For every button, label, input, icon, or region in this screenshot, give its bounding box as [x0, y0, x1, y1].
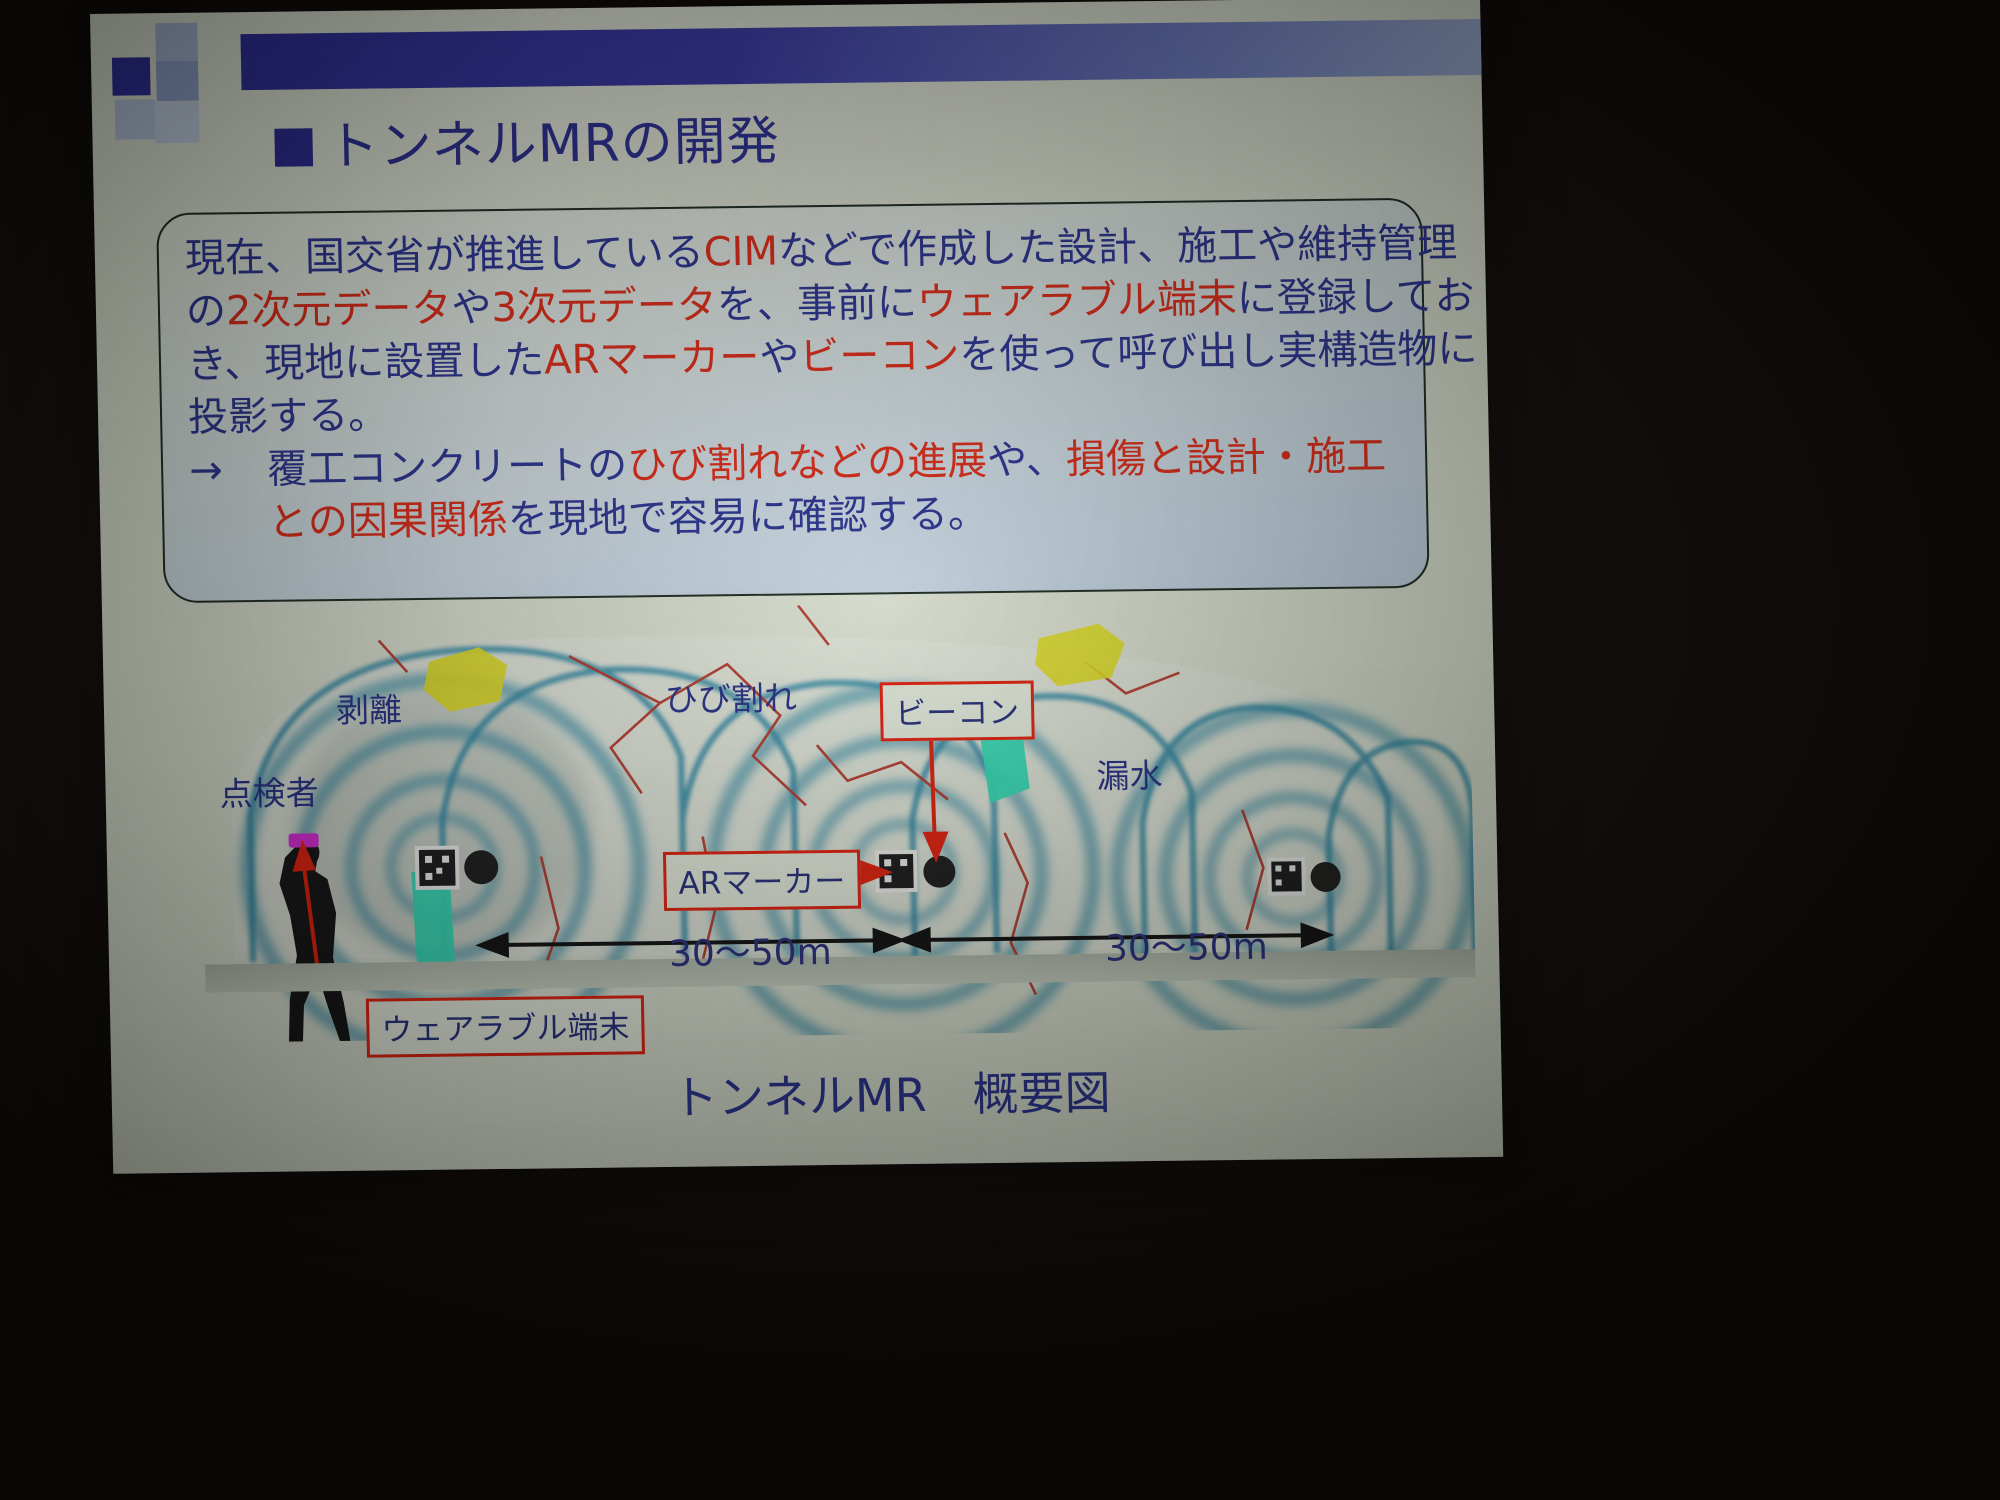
body-text: き、現地に設置した — [187, 337, 545, 387]
highlight-text: ビーコン — [799, 332, 960, 380]
description-paragraph: 現在、国交省が推進しているCIMなどで作成した設計、施工や維持管理の2次元データ… — [184, 218, 1402, 445]
tunnel-diagram-svg — [138, 597, 1477, 1043]
highlight-text: 2次元データ — [226, 286, 452, 335]
deco-square-1 — [112, 57, 151, 95]
body-text: や、 — [987, 437, 1067, 484]
deco-square-3 — [156, 61, 199, 102]
body-text: や — [451, 285, 492, 331]
body-text: 覆工コンクリートの — [267, 442, 628, 492]
presentation-slide: トンネルMRの開発 現在、国交省が推進しているCIMなどで作成した設計、施工や維… — [90, 0, 1503, 1174]
callout-beacon: ビーコン — [880, 681, 1035, 742]
highlight-text: との因果関係 — [268, 497, 509, 546]
body-text: を現地で容易に確認する。 — [507, 491, 988, 543]
arrow-icon: → — [189, 444, 234, 498]
arrow-icon — [190, 497, 235, 551]
label-spalling: 剥離 — [335, 683, 402, 732]
highlight-text: ARマーカー — [544, 335, 760, 384]
highlight-text: 損傷と設計・施工 — [1066, 433, 1387, 483]
body-text: 投影する。 — [188, 392, 389, 440]
slide-title-text: トンネルMRの開発 — [326, 116, 780, 174]
label-leakage: 漏水 — [1096, 749, 1163, 798]
highlight-text: 3次元データ — [491, 282, 717, 331]
callout-ar-marker: ARマーカー — [663, 850, 861, 911]
deco-square-6 — [155, 101, 200, 144]
diagram-caption: トンネルMR 概要図 — [671, 1057, 1111, 1128]
square-bullet-icon — [274, 128, 313, 166]
highlight-text: ウェアラブル端末 — [916, 276, 1237, 326]
description-line: との因果関係を現地で容易に確認する。 — [268, 488, 989, 550]
body-text: を使って呼び出し実構造物に — [959, 326, 1478, 378]
tunnel-mr-diagram: 剥離ひび割れ点検者漏水 ビーコンARマーカーウェアラブル端末 30〜50m30〜… — [138, 597, 1477, 1043]
header-gradient-bar — [240, 19, 1481, 90]
body-text: を、事前に — [716, 280, 917, 328]
slide-title: トンネルMRの開発 — [274, 116, 780, 174]
body-text: の — [186, 288, 227, 334]
label-inspector: 点検者 — [219, 766, 319, 815]
deco-square-5 — [115, 99, 156, 139]
dimension-left: 30〜50m — [668, 923, 832, 977]
dimension-right: 30〜50m — [1104, 918, 1268, 972]
body-text: や — [759, 334, 800, 380]
conclusion-block: →覆工コンクリートのひび割れなどの進展や、損傷と設計・施工との因果関係を現地で容… — [189, 430, 1405, 551]
highlight-text: CIM — [703, 229, 778, 276]
highlight-text: ひび割れなどの進展 — [627, 438, 988, 488]
body-text: に登録してお — [1236, 273, 1475, 322]
screenshot-root: トンネルMRの開発 現在、国交省が推進しているCIMなどで作成した設計、施工や維… — [0, 0, 2000, 1500]
body-text: 現在、国交省が推進している — [184, 230, 704, 282]
description-box: 現在、国交省が推進しているCIMなどで作成した設計、施工や維持管理の2次元データ… — [156, 198, 1430, 603]
body-text: などで作成した設計、施工や維持管理 — [778, 220, 1458, 274]
ar-marker-group-1 — [415, 845, 499, 890]
label-crack: ひび割れ — [664, 671, 797, 721]
callout-wearable: ウェアラブル端末 — [366, 995, 645, 1057]
deco-square-2 — [155, 23, 198, 62]
